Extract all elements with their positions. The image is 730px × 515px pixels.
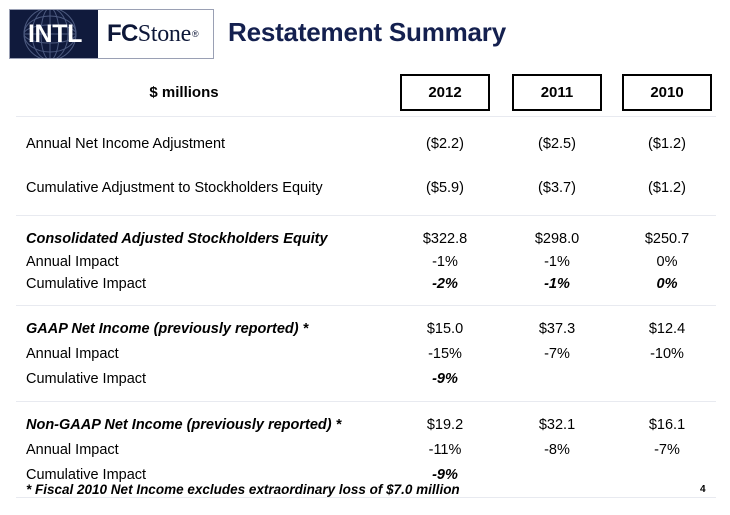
row-value-2011: $298.0 [502, 231, 612, 247]
row-value-2012: ($2.2) [388, 136, 502, 152]
row-value-2012: -11% [388, 442, 502, 458]
spacer [0, 117, 730, 127]
table-section-header-row: Non-GAAP Net Income (previously reported… [0, 412, 730, 437]
restatement-table: $ millions 2012 2011 2010 Annual Net Inc… [0, 68, 730, 498]
logo-intl-text: INTL [26, 22, 82, 47]
column-header-2011: 2011 [502, 74, 612, 111]
row-value-2010: $12.4 [612, 321, 722, 337]
page-number: 4 [700, 484, 706, 495]
row-value-2011: ($2.5) [502, 136, 612, 152]
row-label: Cumulative Impact [0, 467, 388, 483]
column-header-2010: 2010 [612, 74, 722, 111]
row-value-2011: -7% [502, 346, 612, 362]
year-box-2010: 2010 [622, 74, 712, 111]
logo-white-panel: FCStone® [98, 10, 213, 58]
row-value-2010: 0% [612, 276, 722, 292]
table-row: Annual Impact -11% -8% -7% [0, 437, 730, 462]
row-value-2010: $16.1 [612, 417, 722, 433]
table-section-header-row: Consolidated Adjusted Stockholders Equit… [0, 226, 730, 251]
row-value-2011: -8% [502, 442, 612, 458]
row-value-2010: -10% [612, 346, 722, 362]
row-value-2012: -15% [388, 346, 502, 362]
page-title: Restatement Summary [228, 17, 506, 48]
row-value-2011: -1% [502, 254, 612, 270]
row-value-2012: $322.8 [388, 231, 502, 247]
section-label-non-gaap-net-income: Non-GAAP Net Income (previously reported… [0, 417, 388, 433]
spacer [0, 295, 730, 305]
row-label: Annual Impact [0, 346, 388, 362]
row-value-2011: $37.3 [502, 321, 612, 337]
slide-header: INTL FCStone® Restatement Summary [0, 0, 730, 68]
row-label: Annual Impact [0, 254, 388, 270]
row-value-2010: -7% [612, 442, 722, 458]
row-value-2010: $250.7 [612, 231, 722, 247]
row-value-2010: ($1.2) [612, 136, 722, 152]
unit-label: $ millions [0, 84, 388, 101]
company-logo: INTL FCStone® [9, 9, 214, 59]
section-label-gaap-net-income: GAAP Net Income (previously reported) * [0, 321, 388, 337]
logo-fc-text: FC [107, 22, 138, 46]
row-value-2010: ($1.2) [612, 180, 722, 196]
row-value-2010: 0% [612, 254, 722, 270]
row-label: Cumulative Impact [0, 371, 388, 387]
table-section-header-row: GAAP Net Income (previously reported) * … [0, 316, 730, 341]
table-row: Annual Impact -15% -7% -10% [0, 341, 730, 366]
spacer [0, 161, 730, 171]
row-value-2011: -1% [502, 276, 612, 292]
spacer [0, 306, 730, 316]
table-row: Cumulative Impact -2% -1% 0% [0, 273, 730, 295]
row-value-2012: -9% [388, 467, 502, 483]
spacer [0, 402, 730, 412]
row-value-2012: $15.0 [388, 321, 502, 337]
slide-restatement-summary: INTL FCStone® Restatement Summary $ mill… [0, 0, 730, 515]
column-header-2012: 2012 [388, 74, 502, 111]
row-value-2011: ($3.7) [502, 180, 612, 196]
table-row: Annual Net Income Adjustment ($2.2) ($2.… [0, 127, 730, 161]
footnote: * Fiscal 2010 Net Income excludes extrao… [26, 482, 460, 497]
row-value-2011: $32.1 [502, 417, 612, 433]
registered-trademark-icon: ® [192, 30, 199, 39]
row-value-2012: -1% [388, 254, 502, 270]
logo-stone-text: Stone [138, 22, 191, 46]
spacer [0, 391, 730, 401]
row-label: Cumulative Impact [0, 276, 388, 292]
table-header-row: $ millions 2012 2011 2010 [0, 68, 730, 116]
logo-navy-panel: INTL [10, 10, 98, 58]
spacer [0, 216, 730, 226]
year-box-2012: 2012 [400, 74, 490, 111]
separator [16, 497, 716, 498]
row-label: Cumulative Adjustment to Stockholders Eq… [0, 180, 388, 196]
row-value-2012: ($5.9) [388, 180, 502, 196]
year-box-2011: 2011 [512, 74, 602, 111]
table-row: Cumulative Adjustment to Stockholders Eq… [0, 171, 730, 205]
table-row: Cumulative Impact -9% [0, 366, 730, 391]
row-value-2012: $19.2 [388, 417, 502, 433]
section-label-consolidated-equity: Consolidated Adjusted Stockholders Equit… [0, 231, 388, 247]
row-label: Annual Impact [0, 442, 388, 458]
row-value-2012: -9% [388, 371, 502, 387]
table-row: Annual Impact -1% -1% 0% [0, 251, 730, 273]
row-label: Annual Net Income Adjustment [0, 136, 388, 152]
spacer [0, 205, 730, 215]
row-value-2012: -2% [388, 276, 502, 292]
